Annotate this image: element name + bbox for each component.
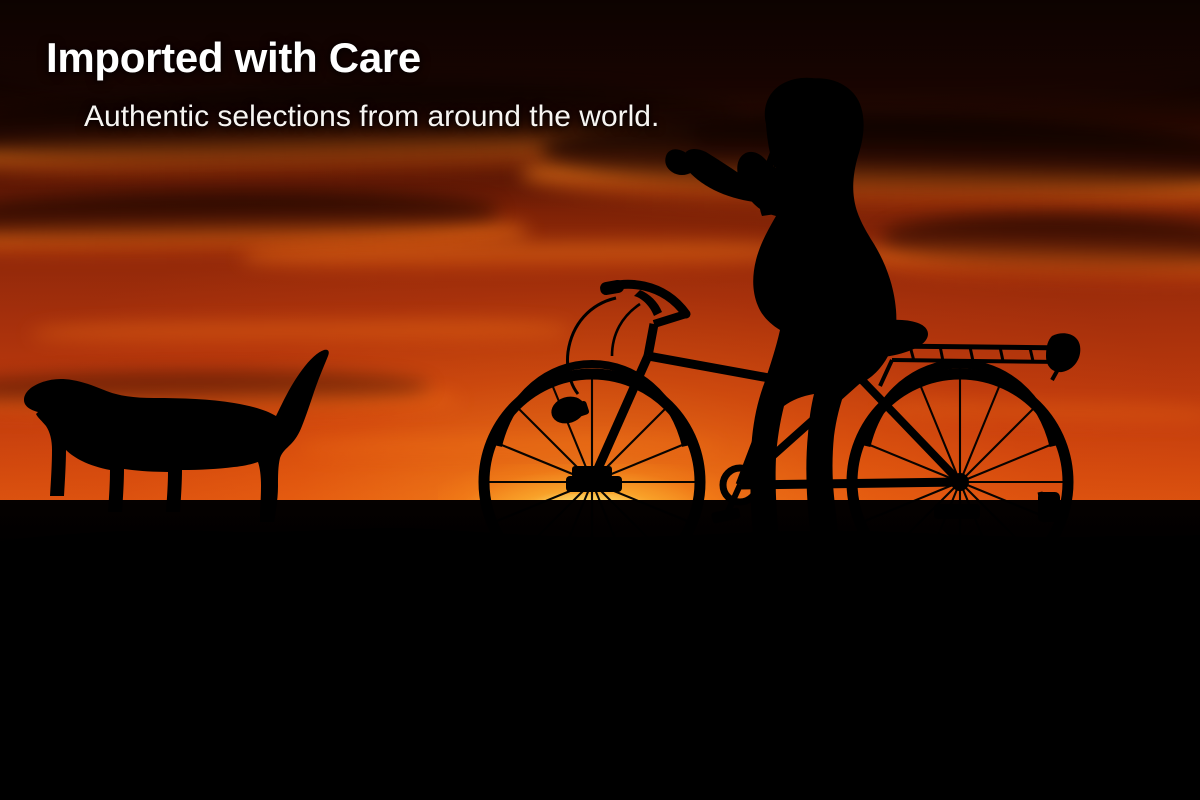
page-title: Imported with Care xyxy=(46,36,421,80)
page-subtitle: Authentic selections from around the wor… xyxy=(84,100,659,133)
ground-foreground xyxy=(0,500,1200,800)
hero-banner: Imported with Care Authentic selections … xyxy=(0,0,1200,800)
